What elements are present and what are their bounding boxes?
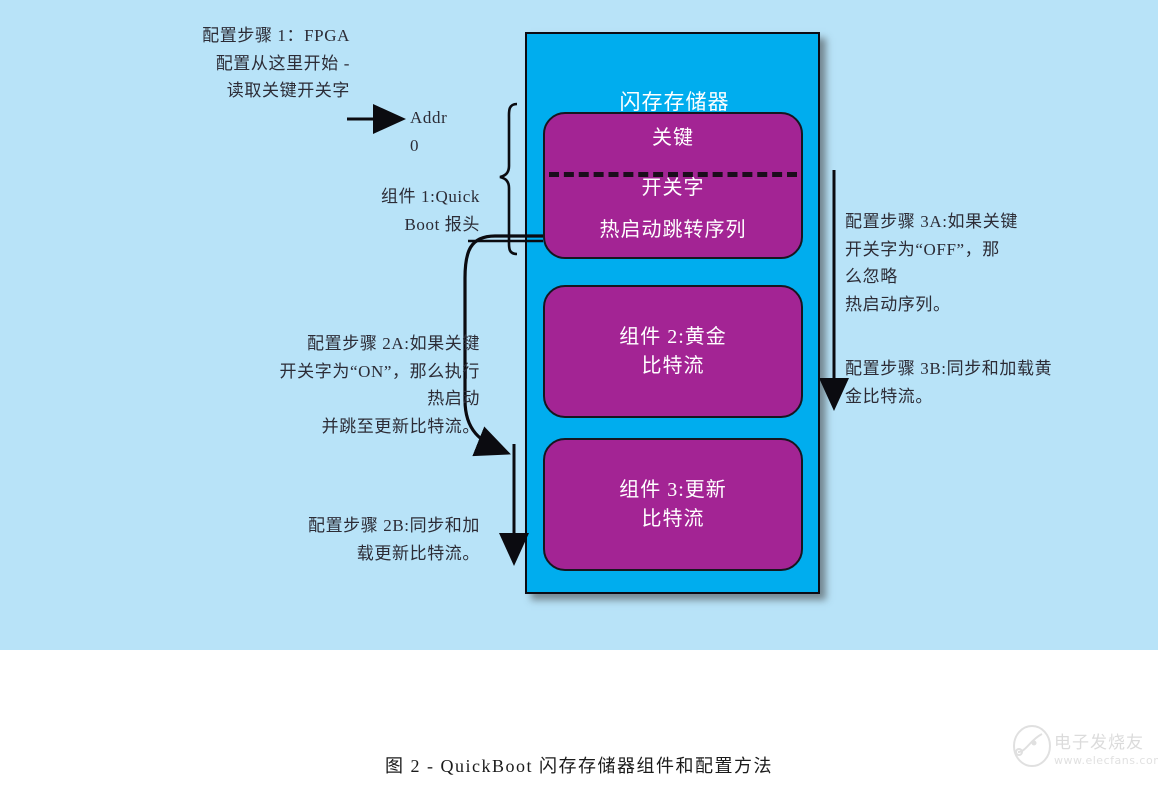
note-config-step-2a: 配置步骤 2A:如果关键 开关字为“ON”，那么执行 热启动 并跳至更新比特流。 <box>205 330 480 440</box>
header-warmboot-jump-label: 热启动跳转序列 <box>545 218 801 243</box>
figure-canvas: 闪存存储器 关键 开关字 热启动跳转序列 组件 2:黄金 比特流 组件 3:更新… <box>0 0 1158 790</box>
figure-caption: 图 2 - QuickBoot 闪存存储器组件和配置方法 <box>0 752 1158 778</box>
watermark: 电子发烧友 www.elecfans.com <box>1012 722 1152 784</box>
update-bitstream-label: 组件 3:更新 比特流 <box>545 476 801 534</box>
component-golden-bitstream: 组件 2:黄金 比特流 <box>543 285 803 418</box>
note-config-step-3a: 配置步骤 3A:如果关键 开关字为“OFF”，那 么忽略 热启动序列。 <box>845 208 1080 318</box>
watermark-logo-icon <box>1012 722 1052 770</box>
note-config-step-2b: 配置步骤 2B:同步和加 载更新比特流。 <box>255 512 480 567</box>
component-quickboot-header: 关键 开关字 热启动跳转序列 <box>543 112 803 259</box>
note-component-1-label: 组件 1:Quick Boot 报头 <box>290 183 480 238</box>
watermark-brand: 电子发烧友 <box>1054 728 1144 753</box>
note-config-step-3b: 配置步骤 3B:同步和加载黄 金比特流。 <box>845 355 1085 410</box>
watermark-url: www.elecfans.com <box>1054 754 1158 767</box>
note-config-step-1: 配置步骤 1：FPGA 配置从这里开始 - 读取关键开关字 <box>130 22 350 105</box>
golden-bitstream-label: 组件 2:黄金 比特流 <box>545 323 801 381</box>
component-update-bitstream: 组件 3:更新 比特流 <box>543 438 803 571</box>
header-switch-word-label: 开关字 <box>545 176 801 201</box>
label-addr-0: Addr 0 <box>410 104 500 159</box>
header-critical-label: 关键 <box>545 126 801 151</box>
